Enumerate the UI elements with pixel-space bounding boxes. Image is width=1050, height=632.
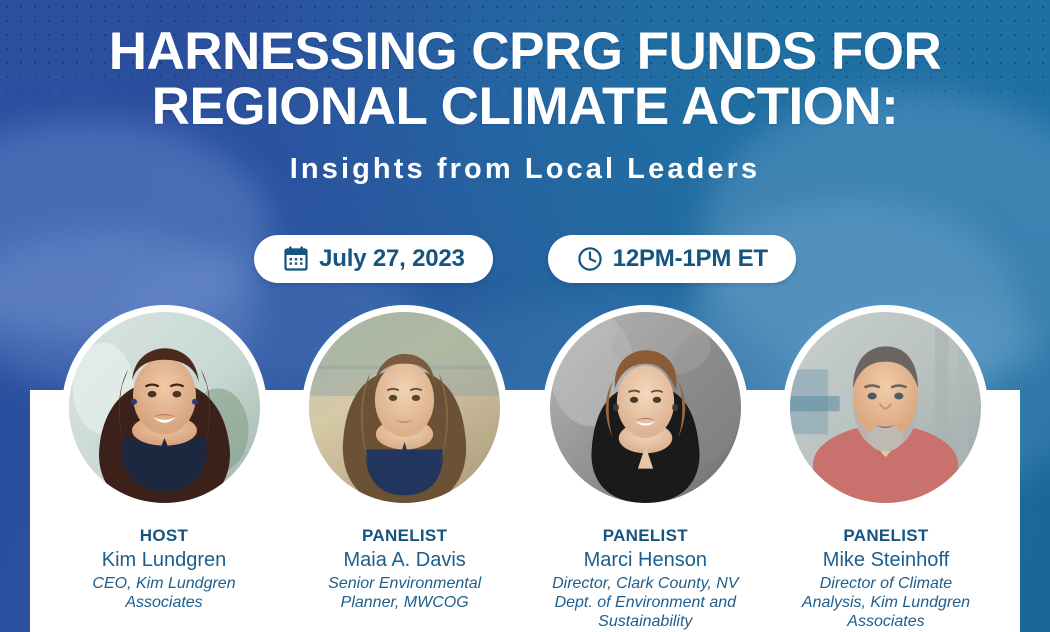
title-line-1: HARNESSING CPRG FUNDS FOR: [109, 22, 942, 81]
speaker-title: Senior Environmental Planner, MWCOG: [328, 574, 481, 612]
speaker-title-line: Planner, MWCOG: [328, 593, 481, 612]
speaker-caption: HOST Kim Lundgren CEO, Kim Lundgren Asso…: [92, 526, 235, 612]
speaker-name: Maia A. Davis: [328, 549, 481, 572]
speaker-name: Mike Steinhoff: [802, 549, 970, 572]
event-meta-badges: July 27, 2023 12PM-1PM ET: [0, 235, 1050, 283]
kim-lundgren-headshot: [69, 312, 260, 503]
speaker-card: PANELIST Marci Henson Director, Clark Co…: [529, 305, 761, 631]
speaker-role: PANELIST: [802, 526, 970, 546]
speaker-card: PANELIST Maia A. Davis Senior Environmen…: [289, 305, 521, 612]
avatar: [302, 305, 507, 510]
speaker-title-line: Senior Environmental: [328, 574, 481, 593]
avatar: [783, 305, 988, 510]
speaker-title-line: Dept. of Environment and: [552, 593, 738, 612]
speaker-role: PANELIST: [552, 526, 738, 546]
speaker-title-line: Associates: [802, 612, 970, 631]
avatar: [543, 305, 748, 510]
date-badge: July 27, 2023: [254, 235, 493, 283]
time-badge: 12PM-1PM ET: [548, 235, 796, 283]
title-line-2: REGIONAL CLIMATE ACTION:: [14, 79, 1036, 134]
speaker-list: HOST Kim Lundgren CEO, Kim Lundgren Asso…: [30, 305, 1020, 632]
speaker-title-line: Director of Climate: [802, 574, 970, 593]
speaker-title-line: Associates: [92, 593, 235, 612]
speaker-title: Director of Climate Analysis, Kim Lundgr…: [802, 574, 970, 631]
speaker-title-line: Sustainability: [552, 612, 738, 631]
speaker-title: CEO, Kim Lundgren Associates: [92, 574, 235, 612]
speaker-name: Kim Lundgren: [92, 549, 235, 572]
clock-icon: [576, 245, 604, 273]
maia-davis-headshot: [309, 312, 500, 503]
speaker-card: PANELIST Mike Steinhoff Director of Clim…: [770, 305, 1002, 631]
speaker-title: Director, Clark County, NV Dept. of Envi…: [552, 574, 738, 631]
speaker-title-line: CEO, Kim Lundgren: [92, 574, 235, 593]
speaker-card: HOST Kim Lundgren CEO, Kim Lundgren Asso…: [48, 305, 280, 612]
speaker-role: HOST: [92, 526, 235, 546]
page-title: HARNESSING CPRG FUNDS FOR REGIONAL CLIMA…: [0, 24, 1050, 134]
calendar-icon: [282, 245, 310, 273]
date-badge-label: July 27, 2023: [319, 245, 465, 273]
title-block: HARNESSING CPRG FUNDS FOR REGIONAL CLIMA…: [0, 24, 1050, 186]
speaker-caption: PANELIST Maia A. Davis Senior Environmen…: [328, 526, 481, 612]
speaker-title-line: Director, Clark County, NV: [552, 574, 738, 593]
speaker-title-line: Analysis, Kim Lundgren: [802, 593, 970, 612]
mike-steinhoff-headshot: [790, 312, 981, 503]
marci-henson-headshot: [550, 312, 741, 503]
page-subtitle: Insights from Local Leaders: [0, 153, 1050, 186]
time-badge-label: 12PM-1PM ET: [613, 245, 768, 273]
speaker-caption: PANELIST Marci Henson Director, Clark Co…: [552, 526, 738, 631]
speaker-name: Marci Henson: [552, 549, 738, 572]
speaker-role: PANELIST: [328, 526, 481, 546]
avatar: [62, 305, 267, 510]
speaker-caption: PANELIST Mike Steinhoff Director of Clim…: [802, 526, 970, 631]
webinar-promo-poster: HARNESSING CPRG FUNDS FOR REGIONAL CLIMA…: [0, 0, 1050, 632]
